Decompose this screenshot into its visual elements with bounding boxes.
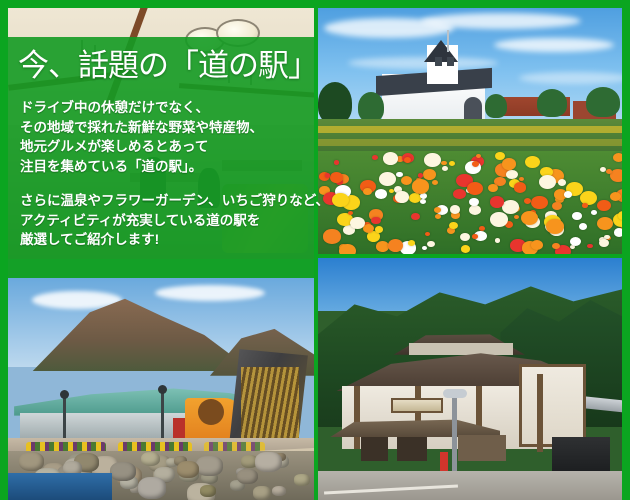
poppy-flower — [388, 239, 404, 252]
clerestory-windows — [409, 343, 512, 355]
paragraph2-line: さらに温泉やフラワーガーデン、いちご狩りなど、 — [20, 191, 329, 211]
poppy-flower — [383, 152, 399, 165]
cloud — [421, 13, 581, 29]
poppy-flower — [325, 173, 330, 177]
tower-window — [447, 57, 454, 66]
poppy-flower — [572, 212, 582, 220]
poppy-flower — [425, 232, 430, 236]
poppy-flower — [395, 191, 409, 203]
intro-paragraph-1: ドライブ中の休憩だけでなく、 その地域で採れた新鮮な野菜や特産物、 地元グルメが… — [20, 98, 263, 176]
poppy-flower — [514, 215, 519, 219]
poppy-flower — [597, 200, 611, 211]
poppy-flower — [506, 170, 517, 179]
paragraph2-line: アクティビティが充実している道の駅を — [20, 211, 329, 231]
poppy-flower — [467, 182, 483, 195]
tower-window — [435, 57, 442, 66]
tree — [586, 87, 620, 117]
poppy-flower — [449, 222, 458, 229]
paragraph1-line: 地元グルメが楽しめるとあって — [20, 137, 263, 157]
poppy-flower — [502, 200, 518, 213]
tree — [537, 89, 567, 117]
poppy-flower — [552, 243, 559, 249]
poppy-flower — [539, 175, 556, 189]
rock — [200, 485, 216, 497]
photo-traditional-wooden-station[interactable] — [318, 258, 622, 500]
poppy-flower — [570, 237, 581, 246]
green-text-overlay: 今、話題の「道の駅」 ドライブ中の休憩だけでなく、 その地域で採れた新鮮な野菜や… — [8, 37, 314, 259]
church-door — [464, 97, 482, 119]
poppy-flower — [591, 210, 597, 215]
shop-window — [458, 435, 507, 462]
paragraph1-line: 注目を集めている「道の駅」。 — [20, 157, 263, 177]
poppy-flower — [404, 157, 411, 163]
poppy-flower — [490, 212, 508, 227]
rock — [177, 461, 200, 478]
poppy-flower — [375, 226, 383, 232]
poppy-flower — [613, 153, 622, 162]
poppy-flower — [552, 202, 562, 210]
poppy-flower — [564, 191, 572, 198]
parking-lot — [318, 471, 622, 500]
poppy-flower — [558, 179, 566, 186]
rock — [253, 486, 271, 500]
paragraph2-line: 厳選してご紹介します! — [20, 230, 329, 250]
shop-signboard — [391, 398, 443, 413]
poppy-flower — [461, 245, 470, 252]
intro-paragraph-2: さらに温泉やフラワーガーデン、いちご狩りなど、 アクティビティが充実している道の… — [20, 191, 329, 250]
poppy-flower — [432, 180, 438, 185]
rock — [255, 452, 282, 472]
poppy-flower — [401, 176, 412, 185]
rock — [272, 486, 286, 497]
poppy-flower — [472, 234, 478, 239]
shop-window — [361, 437, 388, 461]
street-light-pole — [452, 394, 457, 471]
monument-stripes — [241, 367, 299, 442]
poppy-flower — [339, 244, 356, 254]
poppy-flower — [363, 188, 372, 195]
stream — [8, 473, 112, 500]
poppy-flower — [614, 228, 622, 236]
poppy-flower — [372, 155, 378, 160]
rock — [138, 477, 167, 498]
poppy-flower — [424, 153, 440, 166]
poppy-flower — [434, 207, 441, 213]
rock — [196, 456, 222, 476]
poppy-flower — [524, 198, 531, 204]
poppy-flower — [582, 203, 588, 208]
cloud — [155, 285, 265, 301]
tree — [318, 82, 352, 124]
poppy-flower — [514, 182, 527, 193]
poppy-flower — [427, 241, 435, 248]
poppy-flower — [618, 211, 622, 220]
poppy-flower — [332, 193, 349, 207]
rock — [141, 452, 161, 467]
poppy-flower — [531, 196, 547, 209]
poppy-flower — [449, 161, 455, 166]
poppy-flower — [599, 239, 609, 247]
round-window — [198, 399, 224, 425]
poppy-flower — [546, 219, 564, 233]
shop-window — [397, 437, 427, 461]
poppy-flower — [502, 158, 516, 169]
poppy-flower — [450, 205, 460, 213]
poppy-flower — [334, 160, 340, 165]
paragraph1-line: ドライブ中の休憩だけでなく、 — [20, 98, 263, 118]
rock — [237, 469, 258, 485]
poppy-flower — [495, 152, 505, 160]
poppy-flower — [422, 246, 428, 251]
light-pole — [161, 393, 164, 442]
church-spire — [447, 30, 449, 52]
poppy-flower — [350, 217, 365, 229]
poppy-flower — [531, 240, 544, 250]
poppy-flower — [488, 184, 498, 192]
poppy-flower — [525, 156, 540, 169]
poppy-flower — [519, 177, 524, 181]
light-pole — [63, 398, 66, 442]
poppy-flower — [610, 169, 622, 182]
stone-monument — [552, 437, 610, 471]
poppy-flower — [420, 199, 426, 204]
poppy-flower — [597, 217, 614, 231]
poppy-flower — [579, 223, 587, 230]
poppy-flower — [453, 189, 465, 199]
poppy-flower — [420, 193, 427, 199]
michinoeki-banner: 今、話題の「道の駅」 ドライブ中の休憩だけでなく、 その地域で採れた新鮮な野菜や… — [0, 0, 630, 500]
poppy-flower — [469, 205, 481, 215]
gable-wing — [519, 364, 586, 446]
poppy-flower — [460, 233, 470, 241]
poppy-flower — [441, 161, 447, 166]
poppy-field — [318, 151, 622, 254]
poppy-flower — [587, 244, 593, 249]
poppy-flower — [435, 214, 441, 219]
cloud — [494, 38, 614, 52]
photo-church-flower-garden[interactable] — [318, 8, 622, 254]
poppy-flower — [379, 172, 396, 186]
poppy-flower — [412, 179, 429, 193]
poppy-flower — [408, 240, 415, 246]
green-panel-footer — [8, 259, 314, 278]
street-light-icon — [443, 389, 467, 398]
poppy-flower — [442, 166, 448, 171]
poppy-flower — [411, 213, 420, 220]
rock — [110, 462, 136, 482]
red-banner-flag — [440, 452, 448, 472]
photo-modern-roadside-station[interactable] — [8, 278, 314, 500]
poppy-flower — [495, 238, 501, 243]
paragraph1-line: その地域で採れた新鮮な野菜や特産物、 — [20, 118, 263, 138]
poppy-flower — [423, 169, 436, 180]
poppy-flower — [521, 211, 538, 225]
poppy-flower — [348, 211, 353, 215]
tree — [485, 94, 507, 118]
poppy-flower — [389, 189, 394, 193]
cloud — [519, 72, 622, 84]
page-title: 今、話題の「道の駅」 — [18, 49, 318, 83]
poppy-flower — [418, 173, 423, 177]
poppy-flower — [375, 189, 387, 199]
rock — [294, 474, 310, 486]
poppy-flower — [610, 192, 621, 201]
poppy-flower — [469, 198, 479, 206]
tree — [358, 92, 384, 122]
poppy-flower — [371, 217, 381, 225]
timber-post — [537, 374, 543, 451]
